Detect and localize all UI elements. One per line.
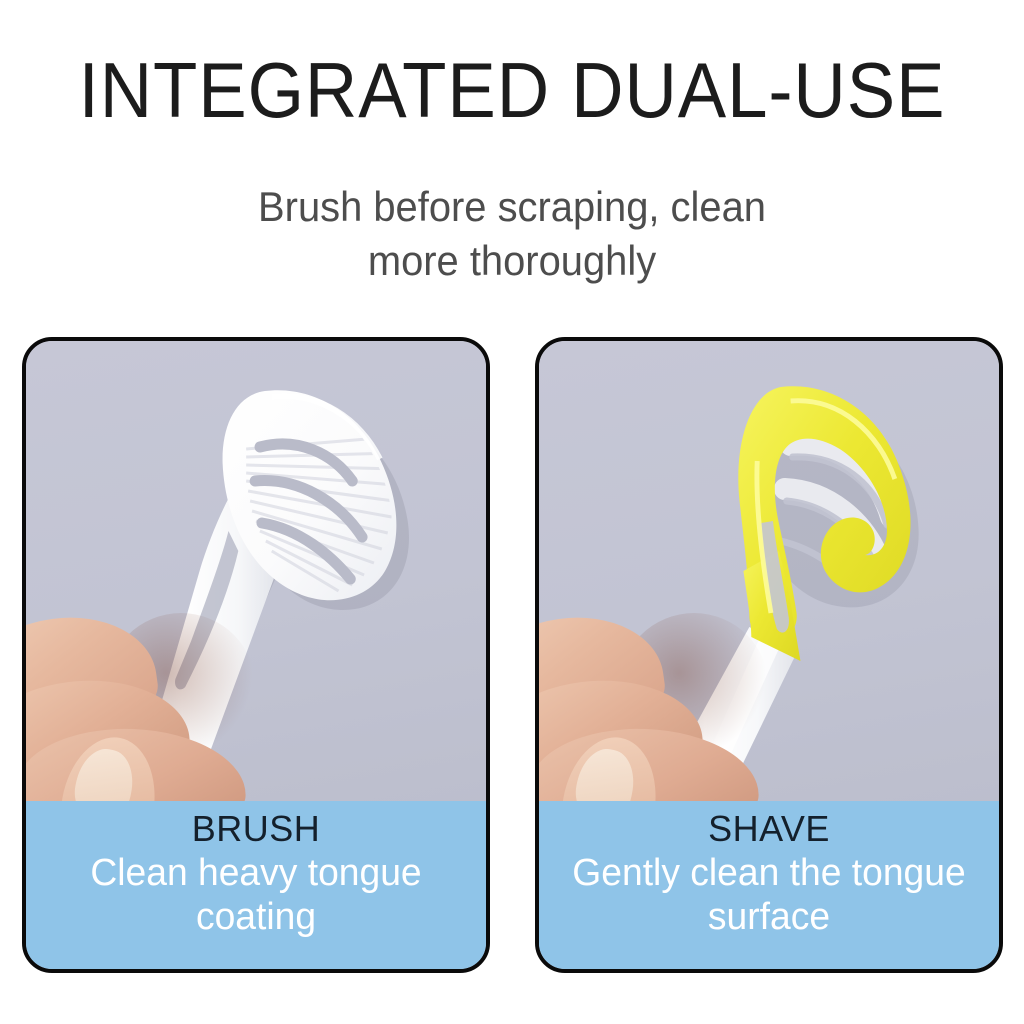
subtitle-line-2: more thoroughly	[26, 234, 999, 288]
caption-shave: SHAVE Gently clean the tongue surface	[539, 801, 999, 969]
panel-row: BRUSH Clean heavy tongue coating	[0, 337, 1024, 973]
panel-shave: SHAVE Gently clean the tongue surface	[535, 337, 1003, 973]
caption-body-shave-line-2: surface	[544, 895, 995, 939]
hand	[26, 609, 286, 809]
page-subtitle: Brush before scraping, clean more thorou…	[26, 180, 999, 288]
caption-body-brush-line-1: Clean heavy tongue	[31, 851, 482, 895]
photo-shave	[539, 341, 999, 809]
caption-brush: BRUSH Clean heavy tongue coating	[26, 801, 486, 969]
caption-title-shave: SHAVE	[539, 807, 999, 851]
hand	[539, 609, 799, 809]
caption-title-brush: BRUSH	[26, 807, 486, 851]
caption-body-shave-line-1: Gently clean the tongue	[544, 851, 995, 895]
page-title: INTEGRATED DUAL-USE	[36, 48, 988, 132]
subtitle-line-1: Brush before scraping, clean	[26, 180, 999, 234]
caption-body-brush-line-2: coating	[31, 895, 482, 939]
panel-brush: BRUSH Clean heavy tongue coating	[22, 337, 490, 973]
photo-brush	[26, 341, 486, 809]
header: INTEGRATED DUAL-USE Brush before scrapin…	[0, 0, 1024, 300]
